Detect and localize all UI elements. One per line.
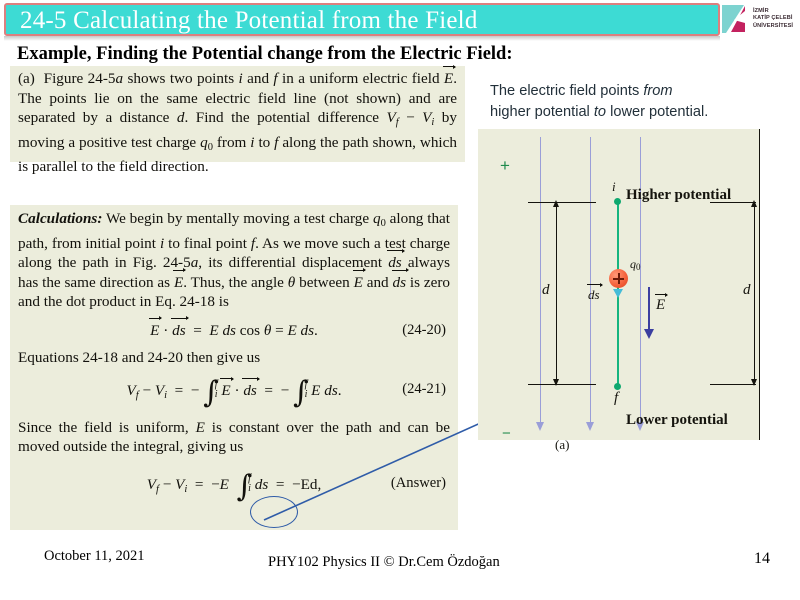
dimension-d-right-arrow-up bbox=[751, 200, 757, 207]
footer-page-number: 14 bbox=[754, 550, 770, 568]
ds-label: ds bbox=[588, 287, 600, 303]
answer-label: (Answer) bbox=[391, 474, 446, 494]
caption-line-2-tail: lower potential. bbox=[606, 104, 708, 120]
ds-label-text: ds bbox=[588, 287, 600, 303]
caption-line-2: higher potential to lower potential. bbox=[490, 102, 760, 123]
e-field-vector-line bbox=[648, 287, 650, 332]
equation-answer: Vf − Vi = −E ∫fi ds = −Ed, (Answer) bbox=[18, 474, 450, 500]
calc-p1-g: . Thus, the angle bbox=[183, 274, 288, 291]
point-f-node bbox=[614, 383, 621, 390]
part-a-text-8: from bbox=[213, 134, 250, 151]
equation-24-21-number: (24-21) bbox=[402, 380, 446, 400]
dimension-bottom-tick bbox=[528, 384, 596, 385]
page-title: 24-5 Calculating the Potential from the … bbox=[20, 6, 478, 36]
part-a-text-2: shows two points bbox=[123, 70, 238, 87]
ds-arrowhead bbox=[613, 289, 623, 298]
lower-potential-label: Lower potential bbox=[626, 412, 728, 429]
e-field-label-text: E bbox=[656, 297, 665, 314]
caption-from-word: from bbox=[643, 83, 672, 99]
dimension-top-tick bbox=[528, 202, 596, 203]
calculations-label: Calculations: bbox=[18, 210, 102, 227]
caption-line-1: The electric field points from bbox=[490, 81, 760, 102]
logo-line-2: KATİP ÇELEBİ bbox=[753, 15, 793, 22]
e-field-vector-arrowhead bbox=[644, 329, 654, 339]
dimension-d-label: d bbox=[542, 282, 550, 299]
dimension-d-arrow-down bbox=[553, 379, 559, 386]
dimension-d-right-label: d bbox=[743, 282, 751, 299]
part-a-label: (a) bbox=[18, 70, 35, 87]
vf-symbol: V bbox=[386, 109, 395, 126]
field-line-1-arrowhead bbox=[536, 422, 544, 431]
part-a-text-6: . Find the potential difference bbox=[184, 109, 386, 126]
calc-p3-a: Since the field is uniform, bbox=[18, 419, 196, 436]
university-logo: İZMİR KATİP ÇELEBİ ÜNİVERSİTESİ bbox=[722, 2, 798, 36]
q0-symbol: q bbox=[200, 134, 208, 151]
calc-p1-i: and bbox=[363, 274, 393, 291]
logo-line-3: ÜNİVERSİTESİ bbox=[753, 23, 793, 30]
equation-24-20: E · ds = E ds cos θ = E ds. (24-20) bbox=[18, 321, 450, 341]
point-f-label: f bbox=[614, 390, 618, 407]
caption-line-1-text: The electric field points bbox=[490, 83, 643, 99]
figure-panel-label: (a) bbox=[555, 437, 569, 453]
calc-p1-h: between bbox=[295, 274, 353, 291]
field-line-2 bbox=[590, 137, 591, 425]
q0-figure-sub: 0 bbox=[636, 262, 641, 272]
calc-p1-e: , its differential displacement bbox=[198, 254, 388, 271]
equation-24-20-number: (24-20) bbox=[402, 321, 446, 341]
part-a-text-4: in a uniform electric field bbox=[278, 70, 444, 87]
negative-plate-sign: − bbox=[502, 425, 511, 440]
calc-p3: Since the field is uniform, E is constan… bbox=[18, 418, 450, 457]
part-a-text-9: to bbox=[255, 134, 275, 151]
figure-drawing-area: + − d d i f Higher potential Lower poten… bbox=[478, 129, 760, 440]
caption-line-2-text: higher potential bbox=[490, 104, 594, 120]
e-vector-1: E bbox=[174, 273, 183, 293]
answer-highlight-circle bbox=[250, 496, 298, 528]
footer-course-credit: PHY102 Physics II © Dr.Cem Özdoğan bbox=[268, 554, 500, 571]
test-charge-q0 bbox=[609, 269, 628, 288]
calc-p1-a: We begin by mentally moving a test charg… bbox=[102, 210, 373, 227]
e-vector-2: E bbox=[354, 273, 363, 293]
field-line-2-arrowhead bbox=[586, 422, 594, 431]
figure-24-5a-panel: The electric field points from higher po… bbox=[478, 75, 760, 440]
answer-expression: −Ed bbox=[292, 476, 317, 493]
logo-text: İZMİR KATİP ÇELEBİ ÜNİVERSİTESİ bbox=[752, 8, 793, 30]
ds-vector-2: ds bbox=[393, 273, 407, 293]
fig-sub-letter: a bbox=[116, 70, 124, 87]
dimension-d-right-line bbox=[754, 205, 755, 383]
part-a-text-3: and bbox=[243, 70, 274, 87]
part-a-text-1: Figure 24-5 bbox=[44, 70, 116, 87]
higher-potential-label: Higher potential bbox=[626, 187, 731, 204]
e-vector-inline: E bbox=[444, 69, 453, 89]
positive-plate-sign: + bbox=[500, 157, 510, 174]
minus-sign-inline: − bbox=[399, 109, 423, 126]
dimension-right-bottom-tick bbox=[710, 384, 756, 385]
point-i-label: i bbox=[612, 179, 616, 195]
calc-q0: q bbox=[373, 210, 381, 227]
figure-caption: The electric field points from higher po… bbox=[478, 75, 760, 129]
title-bar-shadow bbox=[4, 36, 720, 41]
calc-p2: Equations 24-18 and 24-20 then give us bbox=[18, 348, 450, 368]
logo-mark-icon bbox=[722, 3, 752, 35]
caption-to-word: to bbox=[594, 104, 606, 120]
field-line-1 bbox=[540, 137, 541, 425]
q0-figure-label: q0 bbox=[630, 257, 641, 272]
problem-statement-block: (a) Figure 24-5a shows two points i and … bbox=[10, 66, 465, 162]
slide-title-bar: 24-5 Calculating the Potential from the … bbox=[4, 3, 720, 36]
dimension-d-right-arrow-down bbox=[751, 379, 757, 386]
equation-24-21: Vf − Vi = − ∫fi E · ds = − ∫fi E ds. (24… bbox=[18, 380, 450, 406]
point-i-node bbox=[614, 198, 621, 205]
footer-date: October 11, 2021 bbox=[44, 548, 145, 565]
calc-p3-E: E bbox=[196, 419, 205, 436]
field-line-3 bbox=[640, 137, 641, 425]
e-field-label: E bbox=[656, 297, 665, 314]
figure-right-divider bbox=[759, 129, 760, 440]
calc-p1-c: to final point bbox=[164, 235, 251, 252]
dimension-d-arrow-up bbox=[553, 200, 559, 207]
example-headline: Example, Finding the Potential change fr… bbox=[17, 44, 513, 65]
calculations-block: Calculations: We begin by mentally movin… bbox=[10, 205, 458, 530]
dimension-d-line bbox=[556, 205, 557, 383]
